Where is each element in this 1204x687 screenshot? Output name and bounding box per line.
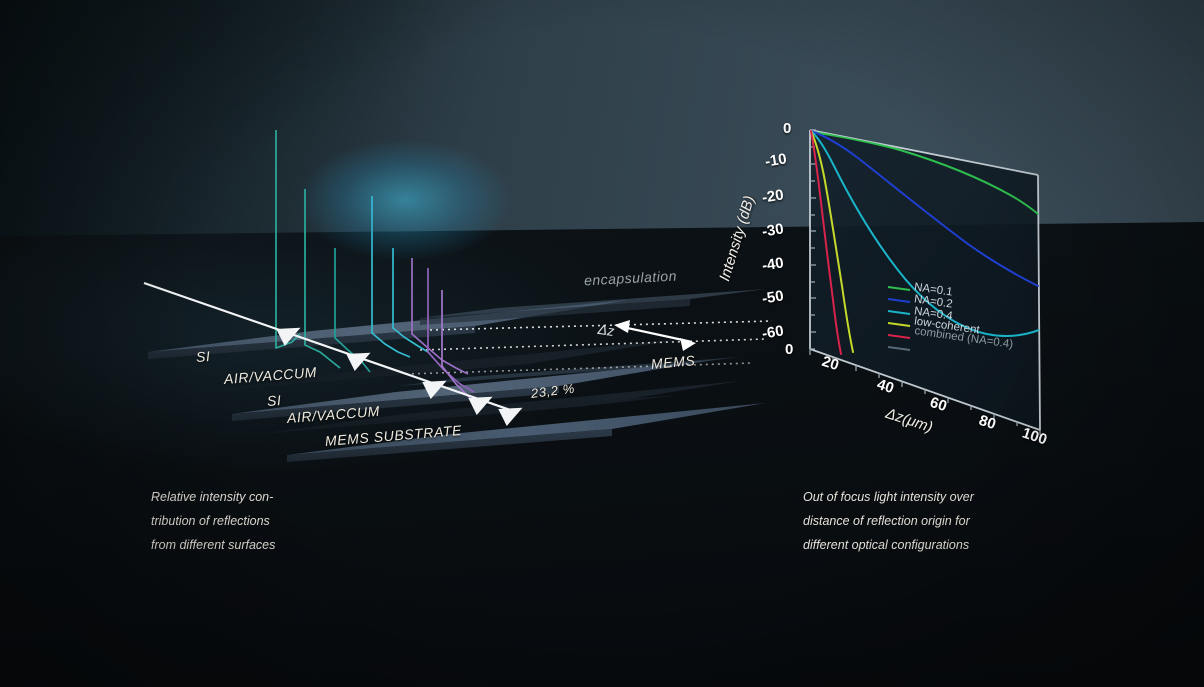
chart-plot [0,0,1204,687]
chart-xtick-0: 0 [785,341,793,358]
chart-plot-background [810,130,1040,430]
chart-ytick-30: -30 [761,220,785,240]
chart-ytick-50: -50 [761,287,785,307]
chart-ytick-0: 0 [783,120,791,137]
figure-canvas: 30,6 % 14,7 % 1,4 % 3,4 % 7,1 % 100 % SI… [0,0,1204,687]
chart-ytick-10: -10 [764,150,788,170]
chart-ytick-20: -20 [761,186,785,206]
chart-ytick-60: -60 [761,322,785,342]
right-panel-caption: Out of focus light intensity over distan… [803,485,1083,557]
chart-ytick-40: -40 [761,254,785,274]
